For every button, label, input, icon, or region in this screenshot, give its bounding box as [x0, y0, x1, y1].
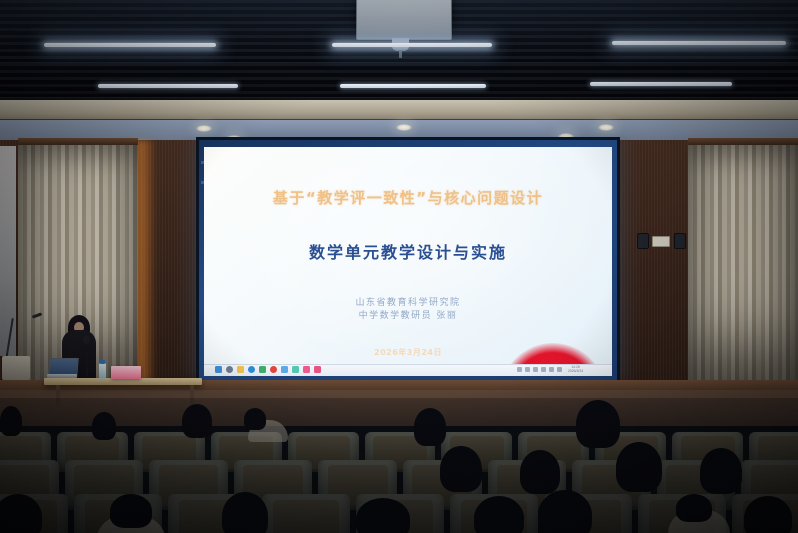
tray-network-icon[interactable]: [541, 367, 546, 372]
link-icon[interactable]: [281, 366, 288, 373]
audience-member: [676, 494, 712, 522]
seat: [262, 494, 350, 533]
water-bottle: [99, 363, 106, 379]
ceiling-slat-edge: [0, 97, 798, 98]
slide-subtitle: 数学单元教学设计与实施: [204, 239, 612, 263]
audience-seating: [0, 398, 798, 533]
audience-member: [356, 498, 410, 533]
tray-volume-icon[interactable]: [549, 367, 554, 372]
slide-org-line-2: 中学数学教研员 张丽: [204, 310, 612, 323]
curtain-rod-right: [688, 138, 798, 145]
audience-member: [700, 448, 742, 494]
ceiling-light-tube: [332, 43, 492, 47]
slide-title: 基于“教学评一致性”与核心问题设计: [204, 187, 612, 208]
desk-microphone-stand: [86, 340, 88, 376]
audience-member: [222, 492, 268, 533]
water-bottle-cap: [100, 360, 105, 364]
wps-presentation-icon[interactable]: [270, 366, 277, 373]
browser-icon[interactable]: [248, 366, 255, 373]
wall-switch-plate[interactable]: [652, 236, 670, 247]
ceiling-downlight: [396, 124, 412, 131]
lecture-hall-photo: 基于“教学评一致性”与核心问题设计 数学单元教学设计与实施 山东省教育科学研究院…: [0, 0, 798, 533]
start-icon[interactable]: [215, 366, 222, 373]
ceiling-slat-edge: [0, 62, 798, 63]
desk-microphone-head: [83, 336, 90, 344]
audience-member: [0, 406, 22, 436]
laptop-keyboard: [47, 374, 77, 378]
tray-monitor-icon[interactable]: [533, 367, 538, 372]
audience-member: [520, 450, 560, 494]
podium-nameplate: [111, 366, 141, 379]
curtain-rod-left: [18, 138, 138, 145]
taskbar-clock[interactable]: 14:26 2026/3/24: [568, 366, 583, 373]
seat-cushion: [273, 500, 340, 533]
wps-writer-icon[interactable]: [259, 366, 266, 373]
tray-chevron-icon[interactable]: [517, 367, 522, 372]
ceiling-light-tube: [44, 43, 216, 47]
presentation-slide: 基于“教学评一致性”与核心问题设计 数学单元教学设计与实施 山东省教育科学研究院…: [204, 147, 612, 364]
audience-member: [182, 404, 212, 438]
audience-member: [92, 412, 116, 440]
notes-icon[interactable]: [292, 366, 299, 373]
window-light-slit: [0, 146, 16, 356]
slide-org-line-1: 山东省教育科学研究院: [204, 297, 612, 310]
app-pink-icon[interactable]: [303, 366, 310, 373]
wall-speaker-icon: [637, 233, 649, 249]
projection-screen: 基于“教学评一致性”与核心问题设计 数学单元教学设计与实施 山东省教育科学研究院…: [196, 137, 620, 387]
tray-battery-icon[interactable]: [557, 367, 562, 372]
audience-member: [414, 408, 446, 446]
audience-member: [110, 494, 152, 528]
tray-input-method-icon[interactable]: [525, 367, 530, 372]
ceiling-projector: [356, 0, 452, 40]
audience-member: [474, 496, 524, 533]
search-icon[interactable]: [226, 366, 233, 373]
ceiling-downlight: [598, 124, 614, 131]
stage-monitor: [2, 356, 30, 380]
projector-mount: [399, 50, 402, 58]
audience-member: [744, 496, 792, 533]
wall-camera-icon: [674, 233, 686, 249]
curtain-right: [688, 140, 798, 386]
audience-member: [616, 442, 662, 492]
taskbar-icon-group[interactable]: [215, 365, 321, 374]
app-rose-icon[interactable]: [314, 366, 321, 373]
ceiling-light-tube: [340, 84, 486, 88]
audience-member: [576, 400, 620, 448]
ceiling-light-tube: [612, 41, 786, 45]
clock-date: 2026/3/24: [568, 370, 583, 374]
podium-table: [44, 378, 202, 385]
slide-organization: 山东省教育科学研究院 中学数学教研员 张丽: [204, 297, 612, 323]
audience-member: [538, 490, 592, 533]
audience-member: [440, 446, 482, 492]
file-explorer-icon[interactable]: [237, 366, 244, 373]
ceiling-downlight: [196, 125, 212, 132]
audience-member: [244, 408, 266, 430]
ceiling-light-tube: [98, 84, 238, 88]
system-tray[interactable]: 14:26 2026/3/24: [517, 365, 583, 374]
ceiling-light-tube: [590, 82, 732, 86]
